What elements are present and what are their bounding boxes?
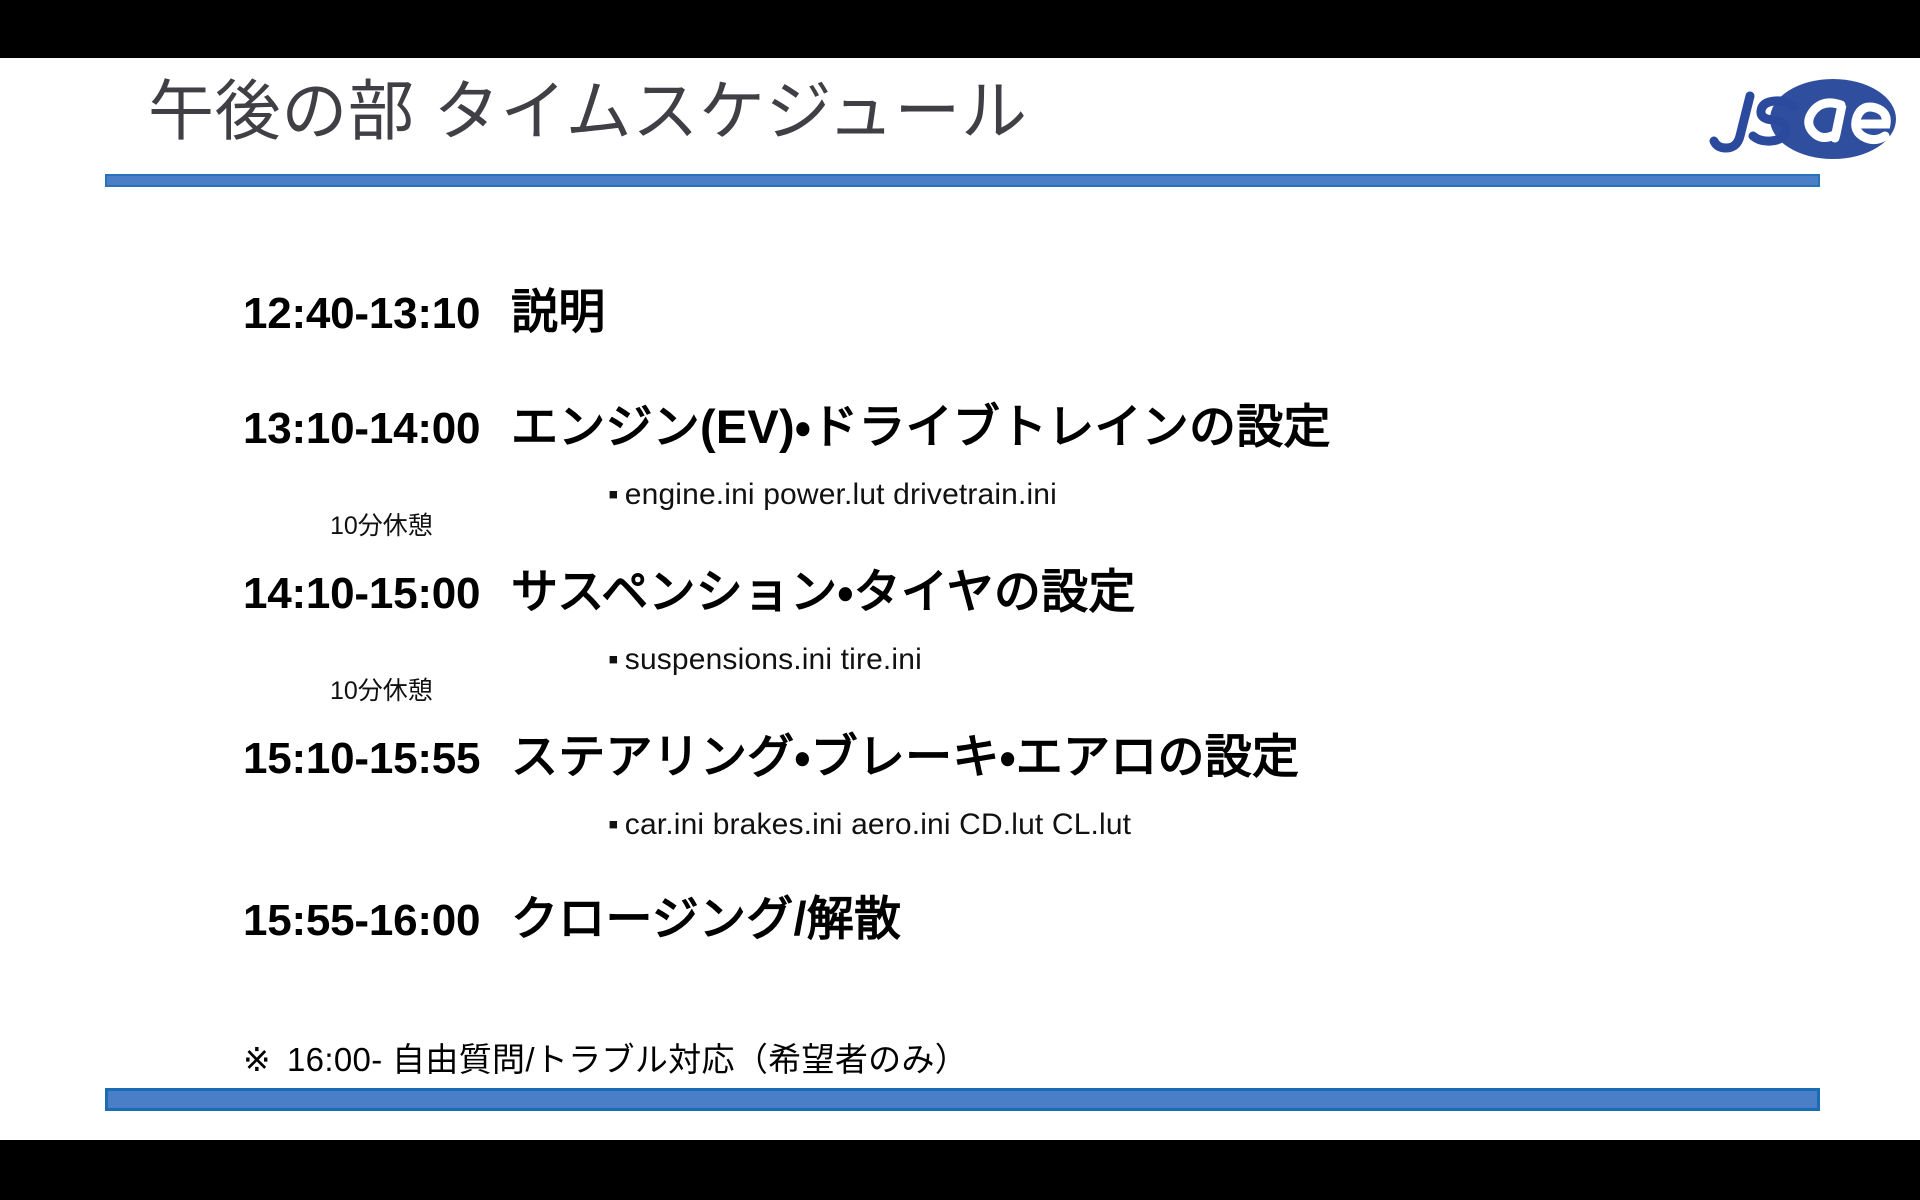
entry-subitem-text: suspensions.ini tire.ini <box>625 643 922 676</box>
bullet-icon: ▪ <box>608 478 619 512</box>
schedule-entry: 15:55-16:00 クロージング/解散 <box>243 880 901 949</box>
entry-subitem: ▪engine.ini power.lut drivetrain.ini <box>608 478 1057 512</box>
entry-label: クロージング/解散 <box>511 880 901 949</box>
slide-frame: 午後の部 タイムスケジュール 12:40-13:10 説明 <box>0 0 1920 1200</box>
entry-label: 説明 <box>511 273 605 342</box>
break-note: 10分休憩 <box>330 506 433 542</box>
entry-time: 15:10-15:55 <box>243 734 511 784</box>
divider-bar-top <box>105 174 1820 187</box>
letterbox-top <box>0 0 1920 58</box>
letterbox-bottom <box>0 1140 1920 1200</box>
break-note: 10分休憩 <box>330 671 433 707</box>
entry-label: ステアリング・ブレーキ・エアロの設定 <box>511 718 1299 787</box>
schedule-entry: 12:40-13:10 説明 <box>243 273 605 342</box>
page-title: 午後の部 タイムスケジュール <box>148 74 1028 150</box>
entry-subitem: ▪suspensions.ini tire.ini <box>608 643 922 677</box>
divider-bar-bottom <box>105 1088 1820 1111</box>
slide-canvas: 午後の部 タイムスケジュール 12:40-13:10 説明 <box>0 58 1920 1140</box>
footnote-mark-icon: ※ <box>243 1041 271 1078</box>
entry-label: サスペンション・タイヤの設定 <box>511 553 1136 622</box>
entry-time: 13:10-14:00 <box>243 404 511 454</box>
schedule-entry: 13:10-14:00 エンジン(EV)・ドライブトレインの設定 <box>243 388 1331 457</box>
entry-time: 12:40-13:10 <box>243 289 511 339</box>
footnote: ※16:00- 自由質問/トラブル対応（希望者のみ） <box>243 1033 968 1081</box>
jsae-logo <box>1690 72 1900 172</box>
schedule-entry: 15:10-15:55 ステアリング・ブレーキ・エアロの設定 <box>243 718 1299 787</box>
entry-time: 14:10-15:00 <box>243 569 511 619</box>
schedule-entry: 14:10-15:00 サスペンション・タイヤの設定 <box>243 553 1136 622</box>
entry-time: 15:55-16:00 <box>243 896 511 946</box>
bullet-icon: ▪ <box>608 808 619 842</box>
footnote-text: 16:00- 自由質問/トラブル対応（希望者のみ） <box>287 1041 968 1078</box>
jsae-logo-icon <box>1690 72 1900 172</box>
entry-subitem-text: car.ini brakes.ini aero.ini CD.lut CL.lu… <box>625 808 1131 841</box>
bullet-icon: ▪ <box>608 643 619 677</box>
entry-subitem-text: engine.ini power.lut drivetrain.ini <box>625 478 1057 511</box>
entry-subitem: ▪car.ini brakes.ini aero.ini CD.lut CL.l… <box>608 808 1131 842</box>
entry-label: エンジン(EV)・ドライブトレインの設定 <box>511 388 1331 457</box>
